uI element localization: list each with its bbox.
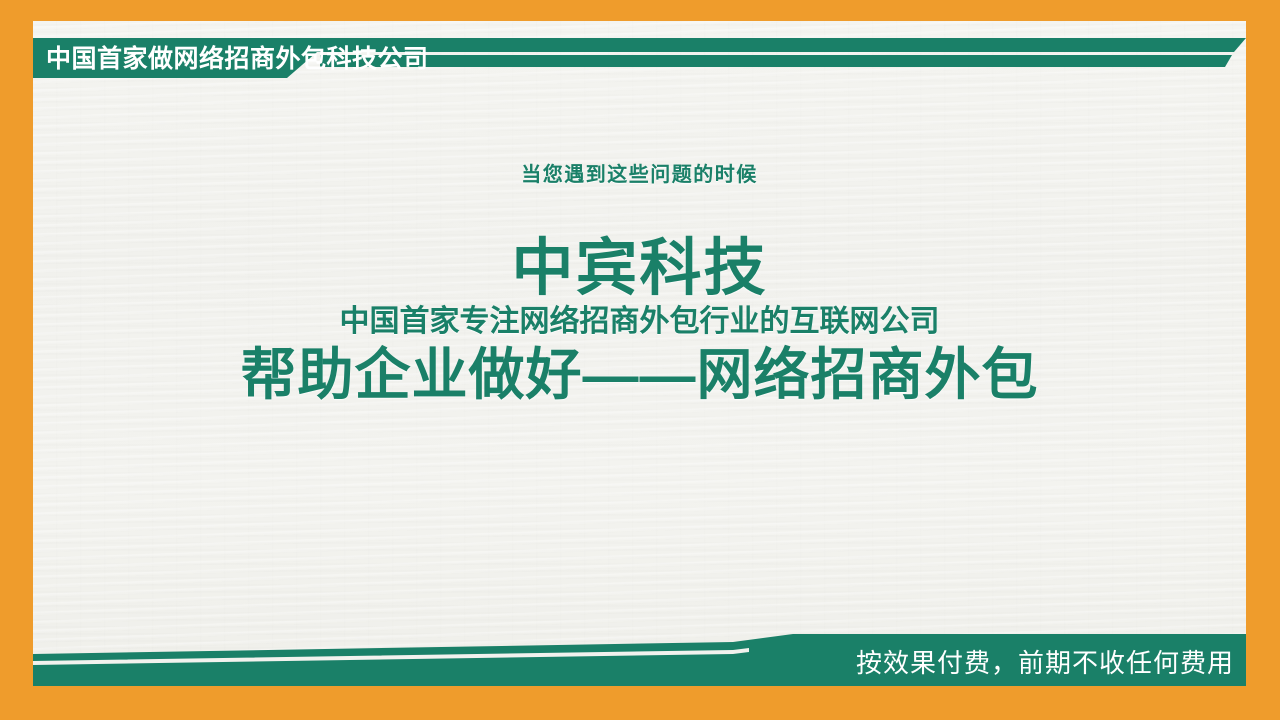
header-badge-label: 中国首家做网络招商外包科技公司 (46, 41, 429, 77)
tagline-text: 中国首家专注网络招商外包行业的互联网公司 (33, 306, 1246, 338)
kicker-text: 当您遇到这些问题的时候 (33, 165, 1246, 185)
headline-text: 帮助企业做好——网络招商外包 (33, 346, 1246, 405)
slide-content: 当您遇到这些问题的时候 中宾科技 中国首家专注网络招商外包行业的互联网公司 帮助… (33, 100, 1246, 405)
footer-slogan: 按效果付费，前期不收任何费用 (856, 646, 1234, 680)
slide-canvas: 中国首家做网络招商外包科技公司 当您遇到这些问题的时候 中宾科技 中国首家专注网… (0, 0, 1280, 720)
brand-title: 中宾科技 (33, 237, 1246, 300)
